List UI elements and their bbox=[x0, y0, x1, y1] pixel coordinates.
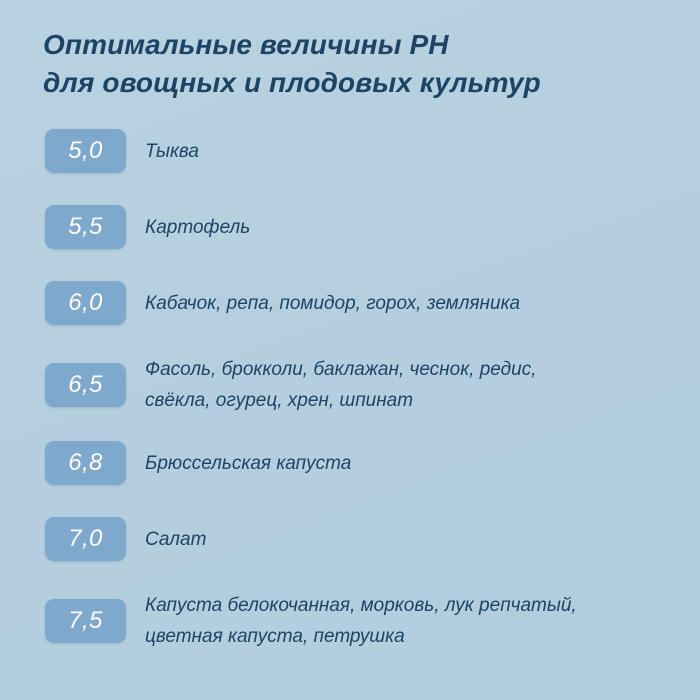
ph-value-label: 6,8 bbox=[68, 451, 103, 475]
ph-value-badge: 7,0 bbox=[45, 517, 126, 561]
crop-list: Фасоль, брокколи, баклажан, чеснок, реди… bbox=[145, 354, 700, 416]
ph-value-label: 6,0 bbox=[68, 291, 103, 315]
crop-line: Картофель bbox=[145, 212, 692, 243]
crop-line: Капуста белокочанная, морковь, лук репча… bbox=[145, 590, 692, 621]
crop-list: Брюссельская капуста bbox=[145, 448, 700, 479]
crop-line: Салат bbox=[145, 524, 692, 555]
ph-value-badge: 6,0 bbox=[45, 281, 126, 325]
crop-line: Фасоль, брокколи, баклажан, чеснок, реди… bbox=[145, 354, 692, 385]
list-item: 6,5 Фасоль, брокколи, баклажан, чеснок, … bbox=[0, 352, 700, 418]
ph-value-badge: 6,8 bbox=[45, 441, 126, 485]
crop-line: свёкла, огурец, хрен, шпинат bbox=[145, 385, 692, 416]
crop-list: Тыква bbox=[145, 136, 700, 167]
list-item: 7,5 Капуста белокочанная, морковь, лук р… bbox=[0, 588, 700, 654]
title-line-2: для овощных и плодовых культур bbox=[43, 64, 663, 102]
ph-value-label: 5,5 bbox=[68, 215, 103, 239]
crop-line: Тыква bbox=[145, 136, 692, 167]
ph-value-label: 7,0 bbox=[68, 527, 103, 551]
ph-value-label: 6,5 bbox=[68, 373, 103, 397]
list-item: 5,0 Тыква bbox=[0, 124, 700, 178]
ph-value-label: 5,0 bbox=[68, 139, 103, 163]
list-item: 6,0 Кабачок, репа, помидор, горох, земля… bbox=[0, 276, 700, 330]
ph-value-badge: 5,0 bbox=[45, 129, 126, 173]
crop-line: Брюссельская капуста bbox=[145, 448, 692, 479]
ph-value-badge: 7,5 bbox=[45, 599, 126, 643]
list-item: 5,5 Картофель bbox=[0, 200, 700, 254]
crop-list: Салат bbox=[145, 524, 700, 555]
crop-line: цветная капуста, петрушка bbox=[145, 621, 692, 652]
list-item: 7,0 Салат bbox=[0, 512, 700, 566]
ph-value-label: 7,5 bbox=[68, 609, 103, 633]
crop-list: Капуста белокочанная, морковь, лук репча… bbox=[145, 590, 700, 652]
crop-line: Кабачок, репа, помидор, горох, земляника bbox=[145, 288, 692, 319]
ph-infographic: Оптимальные величины РН для овощных и пл… bbox=[0, 0, 700, 700]
crop-list: Картофель bbox=[145, 212, 700, 243]
page-title: Оптимальные величины РН для овощных и пл… bbox=[43, 26, 663, 102]
ph-value-badge: 5,5 bbox=[45, 205, 126, 249]
list-item: 6,8 Брюссельская капуста bbox=[0, 436, 700, 490]
title-line-1: Оптимальные величины РН bbox=[43, 26, 663, 64]
crop-list: Кабачок, репа, помидор, горох, земляника bbox=[145, 288, 700, 319]
ph-value-badge: 6,5 bbox=[45, 363, 126, 407]
ph-value-list: 5,0 Тыква 5,5 Картофель 6,0 Кабачок, реп… bbox=[0, 124, 700, 672]
